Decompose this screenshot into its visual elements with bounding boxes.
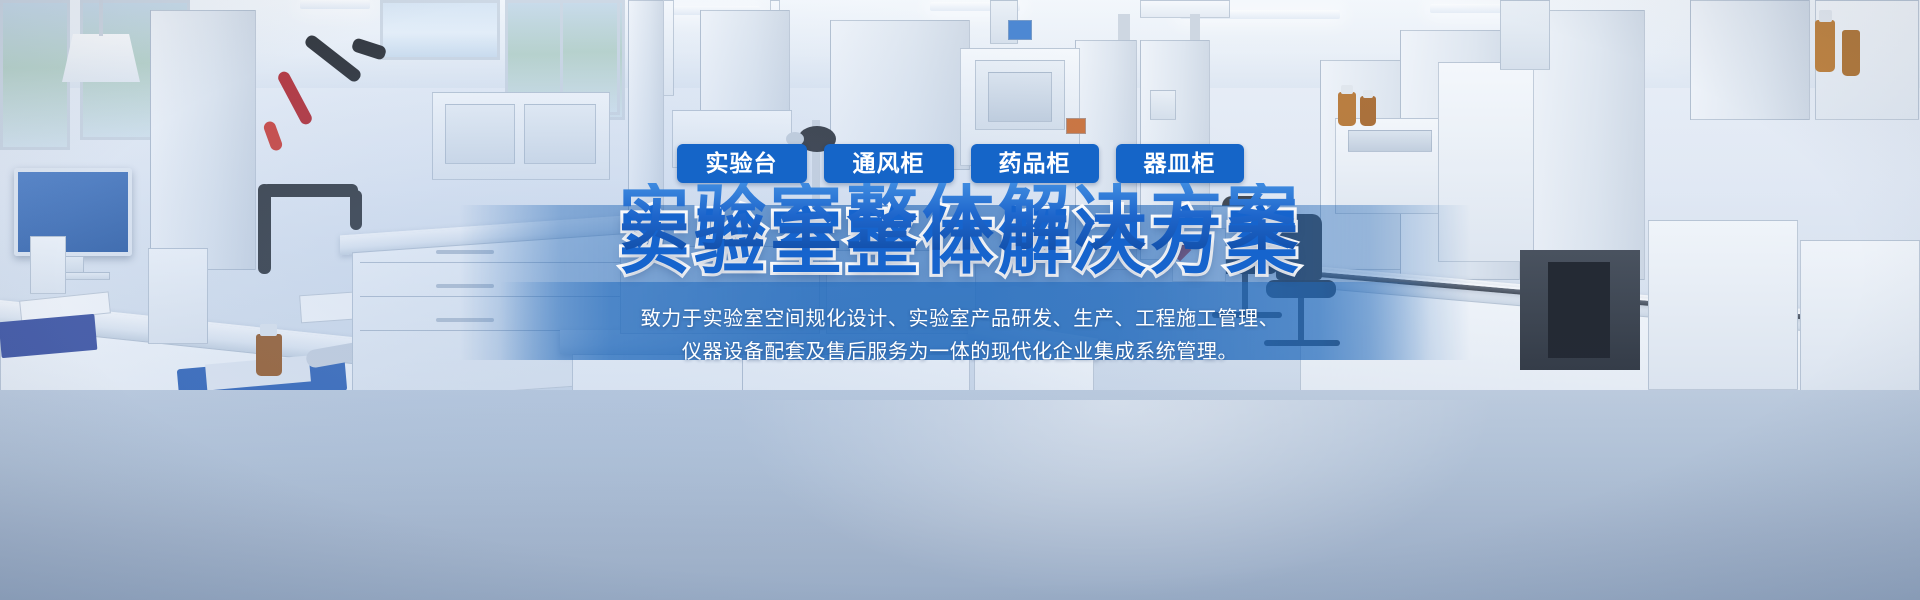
category-button-group: 实验台 通风柜 药品柜 器皿柜 (677, 144, 1244, 183)
headline-title-wrap: 实验室整体解决方案 实验室整体解决方案 (618, 183, 1302, 279)
banner-content: 实验台 通风柜 药品柜 器皿柜 实验室整体解决方案 实验室整体解决方案 致力于实… (0, 0, 1920, 600)
headline-title: 实验室整体解决方案 (618, 207, 1302, 279)
subtitle-line-2: 仪器设备配套及售后服务为一体的现代化企业集成系统管理。 (590, 336, 1330, 369)
category-button-fume-hood[interactable]: 通风柜 (824, 144, 954, 183)
category-button-glassware-cabinet[interactable]: 器皿柜 (1116, 144, 1244, 183)
subtitle-line-1: 致力于实验室空间规化设计、实验室产品研发、生产、工程施工管理、 (590, 303, 1330, 336)
category-button-chemical-cabinet[interactable]: 药品柜 (971, 144, 1099, 183)
category-button-lab-bench[interactable]: 实验台 (677, 144, 807, 183)
headline-subtitle: 致力于实验室空间规化设计、实验室产品研发、生产、工程施工管理、 仪器设备配套及售… (590, 303, 1330, 369)
hero-banner: 实验台 通风柜 药品柜 器皿柜 实验室整体解决方案 实验室整体解决方案 致力于实… (0, 0, 1920, 600)
